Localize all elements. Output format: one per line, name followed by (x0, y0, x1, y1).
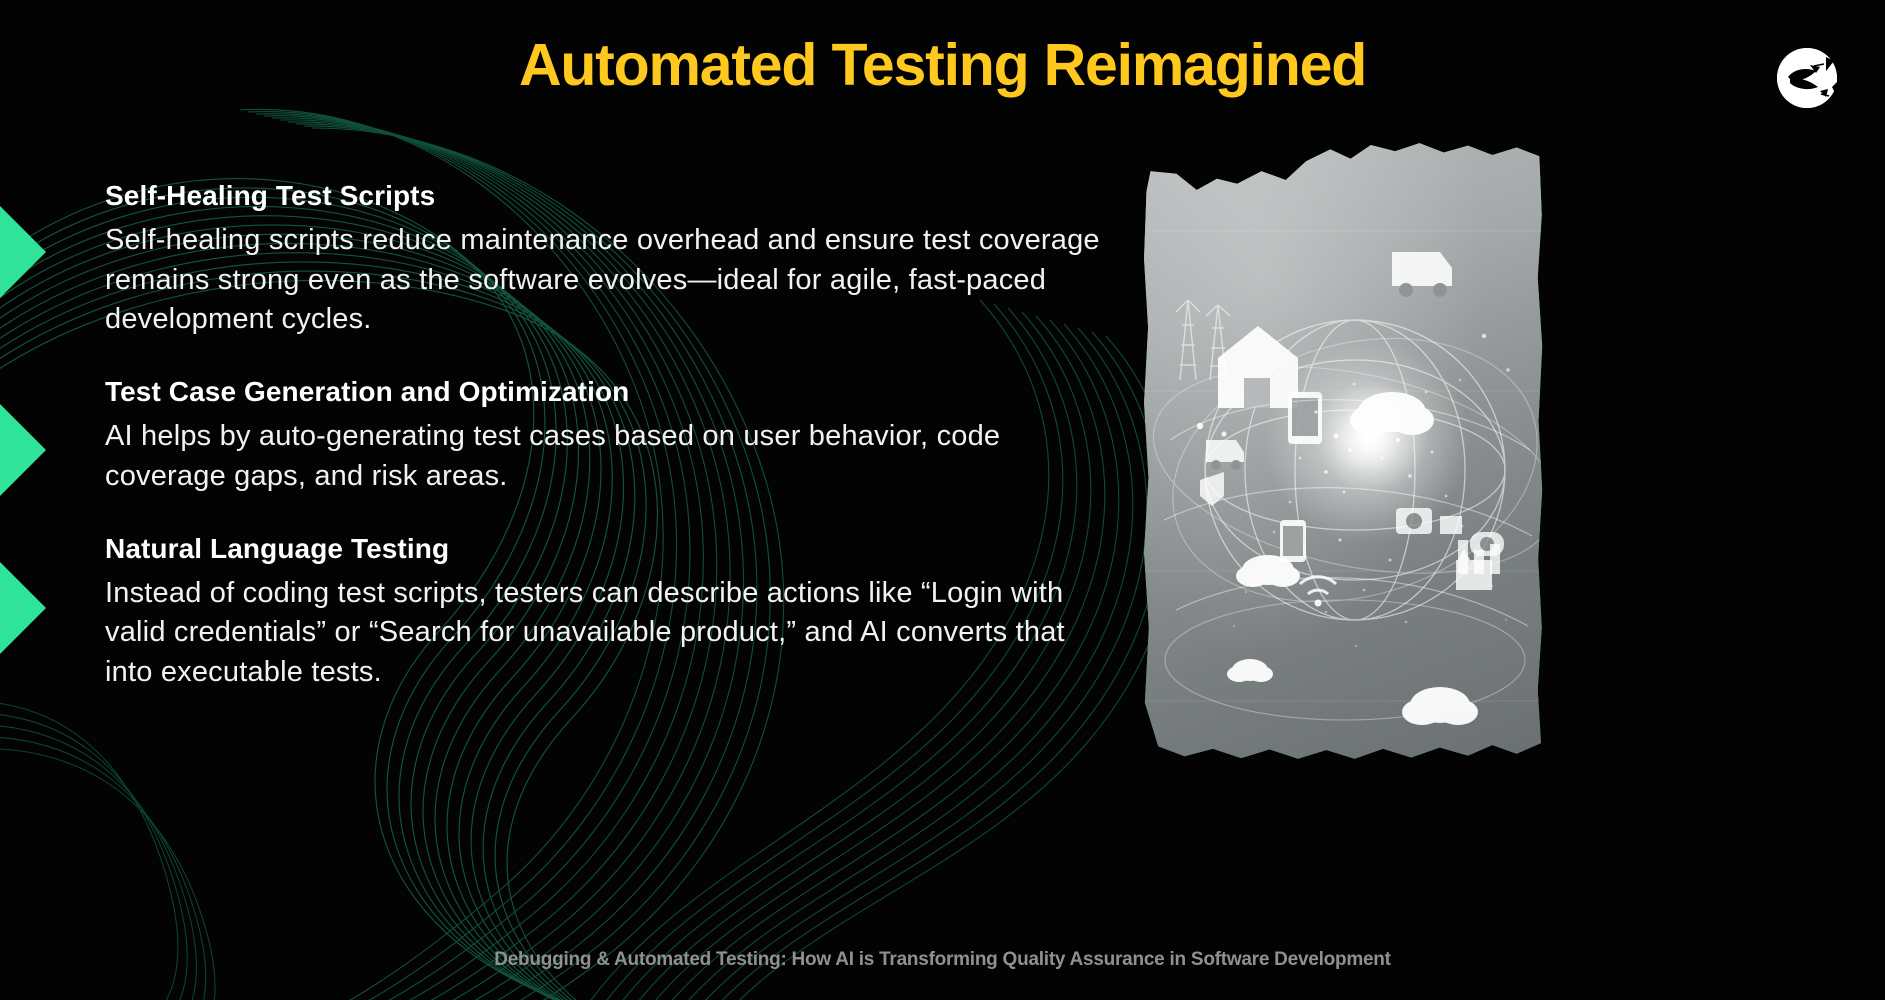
page-title: Automated Testing Reimagined (0, 36, 1885, 95)
chevron-right-icon (0, 552, 90, 664)
content-column: Self-Healing Test Scripts Self-healing s… (105, 180, 1115, 693)
brand-logo-icon[interactable] (1776, 47, 1838, 109)
slide-canvas: Automated Testing Reimagined (0, 0, 1885, 1000)
section-heading: Self-Healing Test Scripts (105, 180, 1115, 212)
section-test-case-generation: Test Case Generation and Optimization AI… (105, 376, 1115, 496)
section-body: Instead of coding test scripts, testers … (105, 574, 1115, 693)
iot-network-overlay (1140, 140, 1545, 765)
section-heading: Natural Language Testing (105, 533, 1115, 565)
media-panel (1140, 140, 1545, 765)
section-natural-language-testing: Natural Language Testing Instead of codi… (105, 533, 1115, 693)
section-body: AI helps by auto-generating test cases b… (105, 417, 1115, 496)
footer-caption: Debugging & Automated Testing: How AI is… (0, 949, 1885, 971)
section-body: Self-healing scripts reduce maintenance … (105, 221, 1115, 340)
chevron-right-icon (0, 196, 90, 308)
section-self-healing-test-scripts: Self-Healing Test Scripts Self-healing s… (105, 180, 1115, 340)
iot-network-image (1140, 140, 1545, 765)
chevron-right-icon (0, 394, 90, 506)
section-heading: Test Case Generation and Optimization (105, 376, 1115, 408)
